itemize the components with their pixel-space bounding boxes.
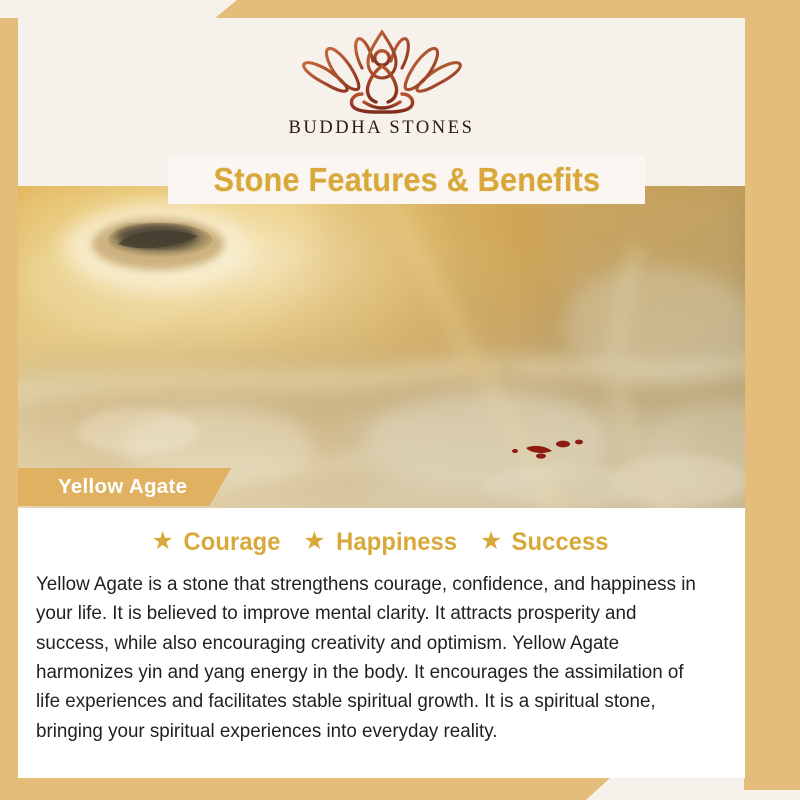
brand-logo-block: BUDDHA STONES <box>18 24 745 139</box>
benefit-label-courage: Courage <box>184 528 281 557</box>
brand-header: BUDDHA STONES <box>18 18 745 140</box>
stone-name-ribbon: Yellow Agate <box>18 468 231 506</box>
stone-name-label: Yellow Agate <box>58 475 187 499</box>
section-title-banner: Stone Features & Benefits <box>168 156 645 204</box>
lotus-meditation-figure-icon <box>292 24 472 116</box>
description-panel: ★ Courage ★ Happiness ★ Success Yellow A… <box>18 508 745 778</box>
gold-frame-bottom <box>0 778 610 800</box>
stone-photo <box>18 186 745 508</box>
benefit-label-success: Success <box>512 528 609 557</box>
benefit-item-courage: ★ Courage <box>152 528 284 557</box>
benefit-keywords: ★ Courage ★ Happiness ★ Success <box>18 508 745 557</box>
brand-name: BUDDHA STONES <box>288 118 474 139</box>
stone-description-text: Yellow Agate is a stone that strengthens… <box>36 570 710 746</box>
star-icon: ★ <box>152 529 174 554</box>
page-title: Stone Features & Benefits <box>213 161 600 199</box>
benefit-label-happiness: Happiness <box>336 528 457 557</box>
poster-root: BUDDHA STONES <box>0 0 800 800</box>
benefit-item-success: ★ Success <box>480 528 612 557</box>
gold-frame-left <box>0 18 18 800</box>
gold-frame-right <box>744 0 800 790</box>
star-icon: ★ <box>303 529 325 554</box>
star-icon: ★ <box>480 529 502 554</box>
content-card: BUDDHA STONES <box>18 18 745 778</box>
gold-frame-top <box>215 0 800 18</box>
benefit-item-happiness: ★ Happiness <box>303 528 460 557</box>
